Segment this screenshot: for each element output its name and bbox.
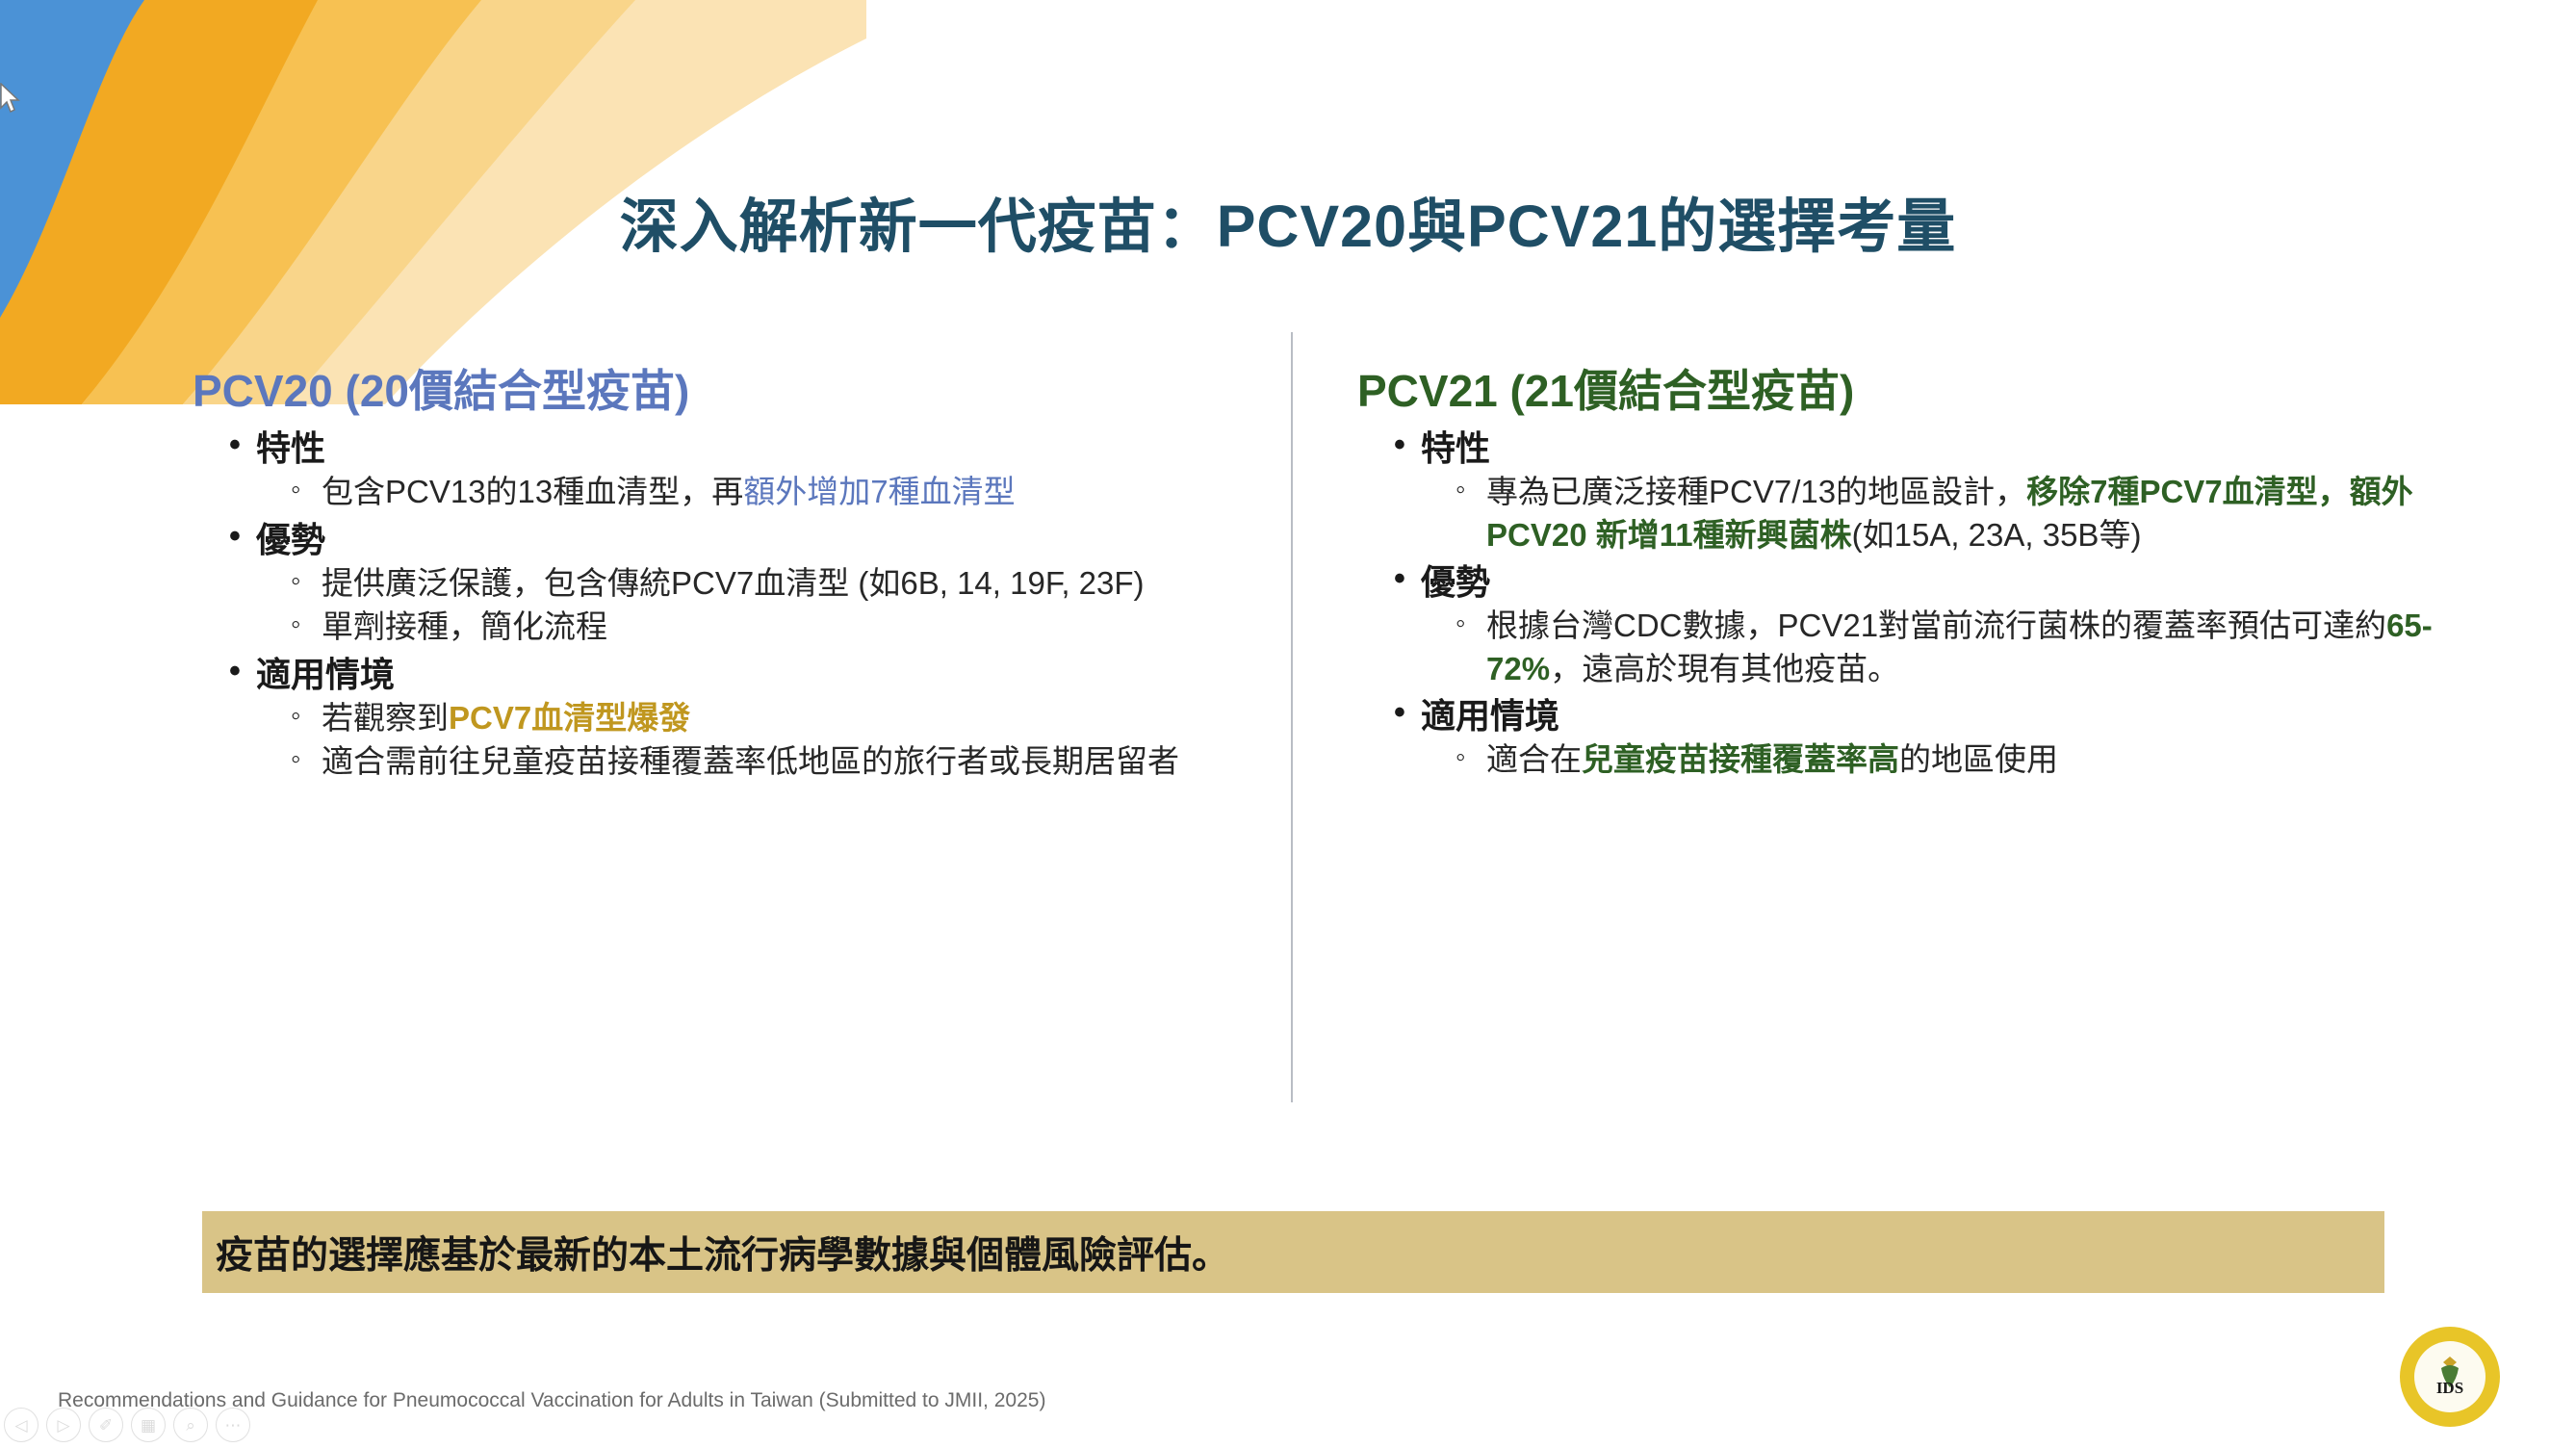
section-label-advantages: 優勢 [229,518,1232,562]
section-label-characteristics: 特性 [1394,427,2445,471]
list-item: 適用情境 若觀察到PCV7血清型爆發 適合需前往兒童疫苗接種覆蓋率低地區的旅行者… [229,653,1232,784]
rich-text: 若觀察到PCV7血清型爆發 [322,700,690,736]
list-item: 包含PCV13的13種血清型，再額外增加7種血清型 [289,471,1232,514]
text-run: PCV7血清型爆發 [449,700,690,736]
text-run: 額外增加7種血清型 [743,474,1015,509]
list-item: 若觀察到PCV7血清型爆發 [289,697,1232,740]
list-item: 優勢 根據台灣CDC數據，PCV21對當前流行菌株的覆蓋率預估可達約65-72%… [1394,560,2445,690]
svg-text:IDS: IDS [2436,1379,2463,1397]
rich-text: 適合在兒童疫苗接種覆蓋率高的地區使用 [1486,741,2058,777]
mouse-cursor [0,83,25,116]
list-item: 特性 專為已廣泛接種PCV7/13的地區設計，移除7種PCV7血清型，額外PCV… [1394,427,2445,556]
list-item: 適用情境 適合在兒童疫苗接種覆蓋率高的地區使用 [1394,694,2445,782]
zoom-tool-icon[interactable]: ⌕ [173,1408,208,1442]
list-item: 適合在兒童疫苗接種覆蓋率高的地區使用 [1454,738,2445,782]
text-run: 的地區使用 [1899,741,2058,777]
sub-bullet-list: 專為已廣泛接種PCV7/13的地區設計，移除7種PCV7血清型，額外PCV20 … [1394,471,2445,556]
rich-text: 根據台灣CDC數據，PCV21對當前流行菌株的覆蓋率預估可達約65-72%，遠高… [1486,608,2433,686]
list-item: 優勢 提供廣泛保護，包含傳統PCV7血清型 (如6B, 14, 19F, 23F… [229,518,1232,649]
previous-slide-icon[interactable]: ◁ [4,1408,39,1442]
text-run: 專為已廣泛接種PCV7/13的地區設計， [1486,474,2026,509]
sub-bullet-list: 包含PCV13的13種血清型，再額外增加7種血清型 [229,471,1232,514]
column-pcv20: PCV20 (20價結合型疫苗) 特性 包含PCV13的13種血清型，再額外增加… [193,366,1232,788]
column-heading-pcv20: PCV20 (20價結合型疫苗) [193,366,1232,417]
text-run: 單劑接種，簡化流程 [322,608,607,644]
slide-canvas: 深入解析新一代疫苗：PCV20與PCV21的選擇考量 PCV20 (20價結合型… [0,0,2576,1448]
sub-bullet-list: 若觀察到PCV7血清型爆發 適合需前往兒童疫苗接種覆蓋率低地區的旅行者或長期居留… [229,697,1232,784]
society-logo-icon: IDS [2397,1324,2503,1430]
more-options-icon[interactable]: ⋯ [216,1408,250,1442]
rich-text: 包含PCV13的13種血清型，再額外增加7種血清型 [322,474,1016,509]
presenter-control-bar[interactable]: ◁ ▷ ✐ ▦ ⌕ ⋯ [4,1408,250,1442]
list-item: 單劑接種，簡化流程 [289,606,1232,649]
summary-banner-text: 疫苗的選擇應基於最新的本土流行病學數據與個體風險評估。 [202,1226,1229,1280]
text-run: 包含PCV13的13種血清型，再 [322,474,743,509]
sub-bullet-list: 根據台灣CDC數據，PCV21對當前流行菌株的覆蓋率預估可達約65-72%，遠高… [1394,605,2445,690]
column-heading-pcv21: PCV21 (21價結合型疫苗) [1357,366,2445,417]
next-slide-icon[interactable]: ▷ [46,1408,81,1442]
text-run: 兒童疫苗接種覆蓋率高 [1582,741,1899,777]
column-divider [1291,332,1293,1102]
bullet-list-pcv20: 特性 包含PCV13的13種血清型，再額外增加7種血清型 優勢 提供廣泛保護，包… [193,427,1232,784]
summary-banner: 疫苗的選擇應基於最新的本土流行病學數據與個體風險評估。 [202,1211,2384,1293]
list-item: 適合需前往兒童疫苗接種覆蓋率低地區的旅行者或長期居留者 [289,740,1232,784]
text-run: ，遠高於現有其他疫苗。 [1550,651,1899,686]
slide-grid-icon[interactable]: ▦ [131,1408,166,1442]
rich-text: 單劑接種，簡化流程 [322,608,607,644]
list-item: 專為已廣泛接種PCV7/13的地區設計，移除7種PCV7血清型，額外PCV20 … [1454,471,2445,556]
text-run: 提供廣泛保護，包含傳統PCV7血清型 (如6B, 14, 19F, 23F) [322,565,1145,601]
list-item: 提供廣泛保護，包含傳統PCV7血清型 (如6B, 14, 19F, 23F) [289,562,1232,606]
text-run: 根據台灣CDC數據，PCV21對當前流行菌株的覆蓋率預估可達約 [1486,608,2386,643]
rich-text: 提供廣泛保護，包含傳統PCV7血清型 (如6B, 14, 19F, 23F) [322,565,1145,601]
sub-bullet-list: 提供廣泛保護，包含傳統PCV7血清型 (如6B, 14, 19F, 23F) 單… [229,562,1232,649]
column-pcv21: PCV21 (21價結合型疫苗) 特性 專為已廣泛接種PCV7/13的地區設計，… [1357,366,2445,786]
section-label-use-cases: 適用情境 [229,653,1232,697]
page-title: 深入解析新一代疫苗：PCV20與PCV21的選擇考量 [0,178,2576,264]
sub-bullet-list: 適合在兒童疫苗接種覆蓋率高的地區使用 [1394,738,2445,782]
section-label-use-cases: 適用情境 [1394,694,2445,738]
text-run: 若觀察到 [322,700,449,736]
text-run: (如15A, 23A, 35B等) [1852,517,2142,553]
section-label-advantages: 優勢 [1394,560,2445,605]
bullet-list-pcv21: 特性 專為已廣泛接種PCV7/13的地區設計，移除7種PCV7血清型，額外PCV… [1357,427,2445,782]
rich-text: 適合需前往兒童疫苗接種覆蓋率低地區的旅行者或長期居留者 [322,743,1179,779]
text-run: 適合在 [1486,741,1582,777]
section-label-characteristics: 特性 [229,427,1232,471]
pen-tool-icon[interactable]: ✐ [89,1408,123,1442]
rich-text: 專為已廣泛接種PCV7/13的地區設計，移除7種PCV7血清型，額外PCV20 … [1486,474,2413,553]
text-run: 適合需前往兒童疫苗接種覆蓋率低地區的旅行者或長期居留者 [322,743,1179,779]
list-item: 根據台灣CDC數據，PCV21對當前流行菌株的覆蓋率預估可達約65-72%，遠高… [1454,605,2445,690]
list-item: 特性 包含PCV13的13種血清型，再額外增加7種血清型 [229,427,1232,514]
